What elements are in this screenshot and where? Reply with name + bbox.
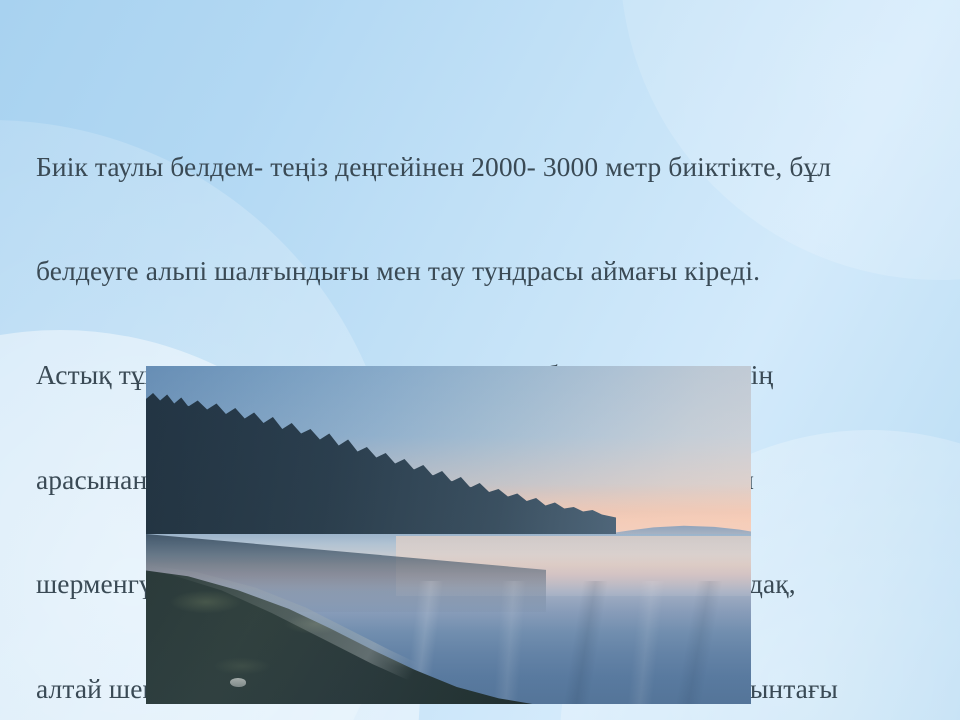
slide-canvas: Биік таулы белдем- теңіз деңгейінен 2000…	[0, 0, 960, 720]
photo-dusk-tint	[146, 366, 751, 704]
lake-landscape-photo	[146, 366, 751, 704]
body-text-line: белдеуге альпі шалғындығы мен тау тундра…	[36, 254, 926, 289]
body-text-line: Биік таулы белдем- теңіз деңгейінен 2000…	[36, 150, 926, 185]
